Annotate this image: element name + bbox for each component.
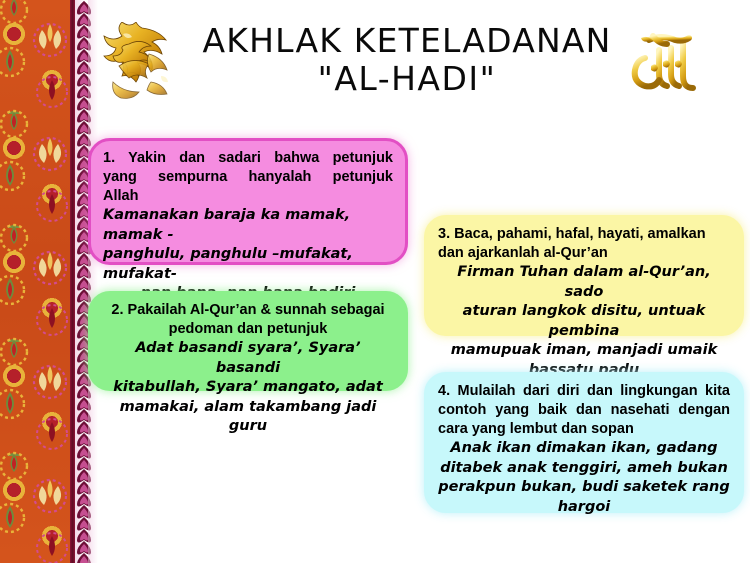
page-title: AKHLAK KETELADANAN "AL-HADI" — [197, 22, 617, 98]
title-line-1: AKHLAK KETELADANAN — [197, 22, 617, 60]
box-4-heading-line-2: contoh yang baik dan nasehati dengan — [438, 401, 730, 420]
content-box-1: 1. Yakin dan sadari bahwa petunjuk yang … — [88, 138, 408, 265]
box-3-proverb-line-1: Firman Tuhan dalam al-Qur’an, sado — [438, 263, 730, 302]
border-petal-motifs — [0, 0, 70, 563]
box-4-heading: 4. Mulailah dari diri dan lingkungan kit… — [438, 382, 730, 439]
slide-header: AKHLAK KETELADANAN "AL-HADI" — [93, 0, 750, 120]
box-4-proverb: Anak ikan dimakan ikan, gadang ditabek a… — [438, 439, 730, 517]
box-3-proverb: Firman Tuhan dalam al-Qur’an, sado atura… — [438, 263, 730, 380]
box-4-heading-line-1: 4. Mulailah dari diri dan lingkungan kit… — [438, 382, 730, 401]
slide-canvas: AKHLAK KETELADANAN "AL-HADI" — [0, 0, 750, 563]
box-2-heading-line-2: pedoman dan petunjuk — [102, 320, 394, 339]
box-2-heading-line-1: 2. Pakailah Al-Qur’an & sunnah sebagai — [102, 301, 394, 320]
box-3-heading: 3. Baca, pahami, hafal, hayati, amalkan … — [438, 225, 730, 263]
box-1-proverb-line-1: Kamanakan baraja ka mamak, mamak - — [103, 206, 393, 245]
arabic-calligraphy-medallion — [99, 22, 185, 110]
content-box-4: 4. Mulailah dari diri dan lingkungan kit… — [424, 372, 744, 513]
content-box-3: 3. Baca, pahami, hafal, hayati, amalkan … — [424, 215, 744, 336]
box-2-proverb-line-1: Adat basandi syara’, Syara’ basandi — [102, 339, 394, 378]
box-1-heading: 1. Yakin dan sadari bahwa petunjuk yang … — [103, 149, 393, 206]
box-3-heading-line-1: 3. Baca, pahami, hafal, hayati, amalkan — [438, 225, 730, 244]
box-3-heading-line-2: dan ajarkanlah al-Qur’an — [438, 244, 730, 263]
box-3-proverb-line-3: mamupuak iman, manjadi umaik — [438, 341, 730, 361]
content-box-2: 2. Pakailah Al-Qur’an & sunnah sebagai p… — [88, 291, 408, 391]
box-2-heading: 2. Pakailah Al-Qur’an & sunnah sebagai p… — [102, 301, 394, 339]
box-4-proverb-line-1: Anak ikan dimakan ikan, gadang — [438, 439, 730, 459]
box-1-heading-line-1: 1. Yakin dan sadari bahwa petunjuk — [103, 149, 393, 168]
box-1-proverb-line-2: panghulu, panghulu –mufakat, mufakat- — [103, 245, 393, 284]
box-1-heading-line-2: yang sempurna hanyalah petunjuk — [103, 168, 393, 187]
box-3-proverb-line-2: aturan langkok disitu, untuak pembina — [438, 302, 730, 341]
box-1-heading-line-3: Allah — [103, 188, 138, 204]
box-4-proverb-line-4: hargoi — [438, 498, 730, 518]
box-4-proverb-line-2: ditabek anak tenggiri, ameh bukan — [438, 459, 730, 479]
box-2-proverb: Adat basandi syara’, Syara’ basandi kita… — [102, 339, 394, 437]
box-4-heading-line-3: cara yang lembut dan sopan — [438, 421, 634, 437]
title-line-2: "AL-HADI" — [197, 60, 617, 98]
ornamental-batik-border — [0, 0, 93, 563]
allah-calligraphy — [615, 28, 711, 104]
box-2-proverb-line-3: mamakai, alam takambang jadi guru — [102, 398, 394, 437]
box-2-proverb-line-2: kitabullah, Syara’ mangato, adat — [102, 378, 394, 398]
box-4-proverb-line-3: perakpun bukan, budi saketek rang — [438, 478, 730, 498]
